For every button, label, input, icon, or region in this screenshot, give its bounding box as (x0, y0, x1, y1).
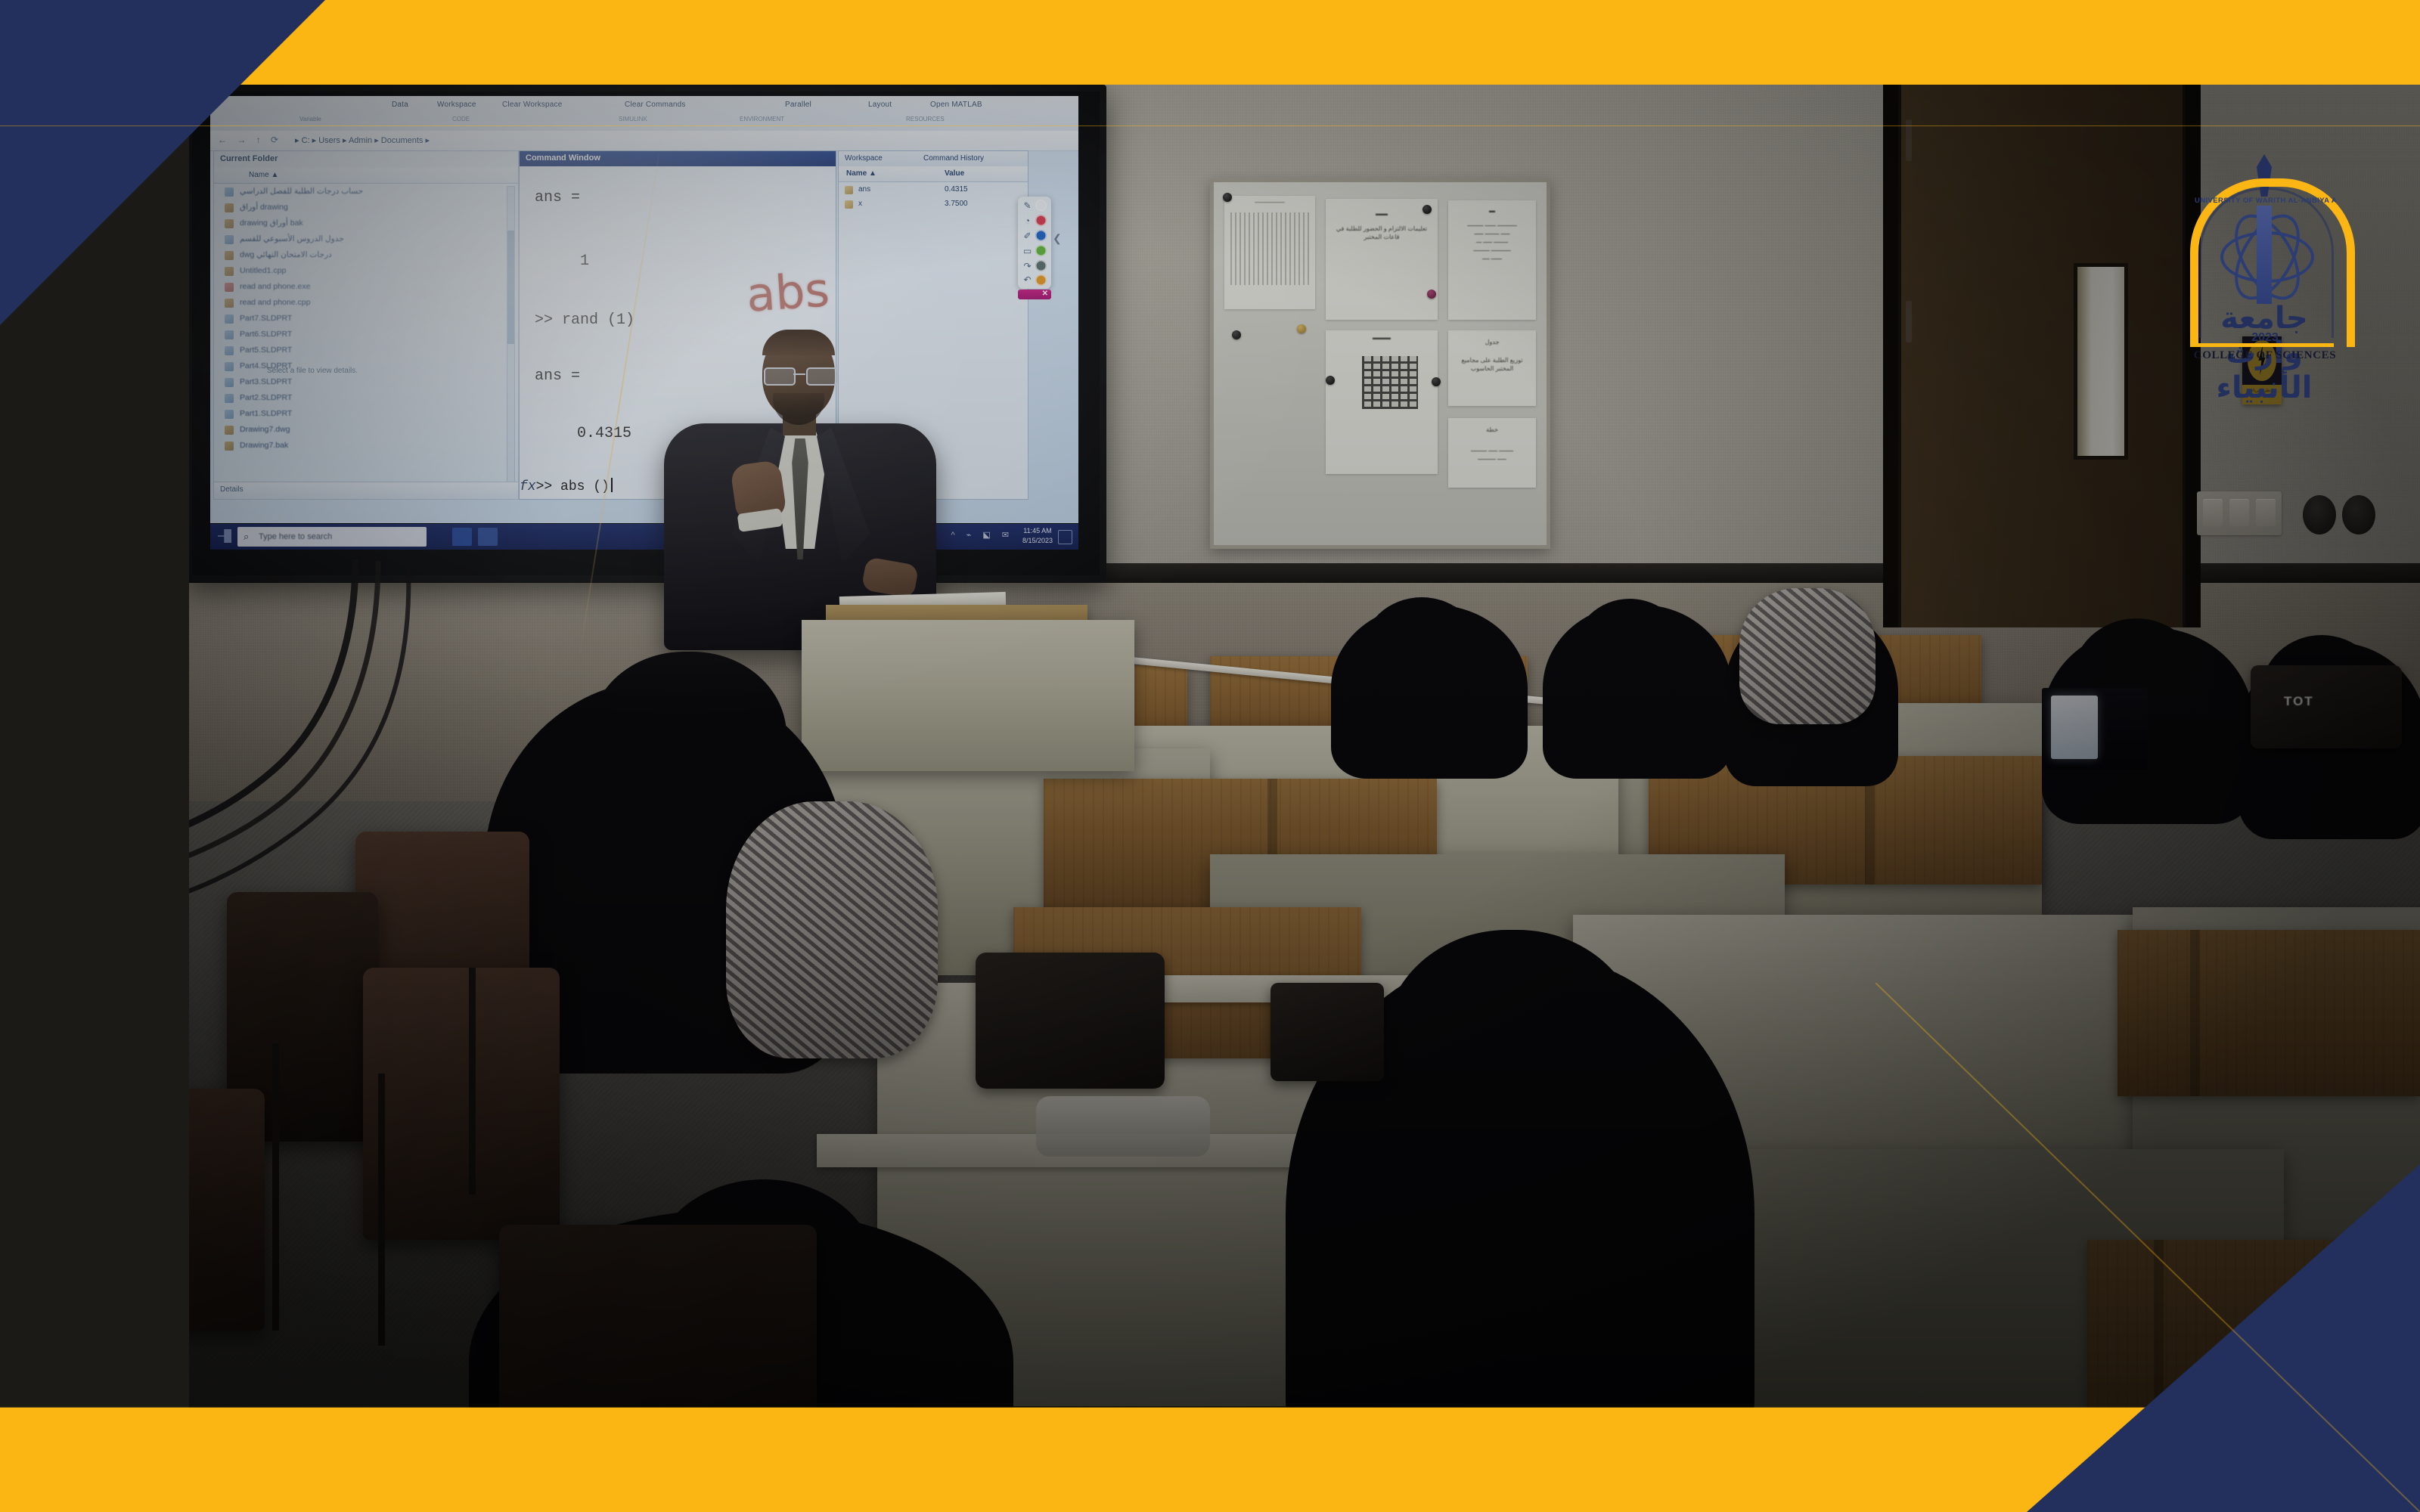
current-folder-title: Current Folder (220, 154, 278, 163)
ribbon-group-parallel: Parallel (785, 101, 811, 109)
classroom-photo: ─────── ▬▬ تعليمات الالتزام و الحضور للط… (0, 0, 2420, 1512)
swatch-orange[interactable] (1035, 274, 1047, 286)
command-output-line: 0.4315 (577, 426, 631, 442)
file-name: Drawing7.dwg (240, 425, 290, 434)
magnet-black-4 (1326, 376, 1335, 385)
ribbon-sub-environment: ENVIRONMENT (740, 116, 784, 122)
student-bag (2251, 665, 2402, 748)
notice-text-2: جدول (1453, 338, 1531, 346)
ribbon-group-workspace: Workspace (437, 101, 476, 109)
variable-value: 0.4315 (945, 185, 968, 194)
file-list-item[interactable]: Untitled1.cpp (214, 264, 518, 280)
command-output-line: 1 (580, 254, 589, 269)
file-type-icon (225, 187, 234, 197)
command-prompt-text[interactable]: >> abs () (536, 479, 610, 494)
file-list-item[interactable]: Part5.SLDPRT (214, 343, 518, 359)
notice-text-3: توزيع الطلبة على مجاميع المختبر الحاسوب (1453, 356, 1531, 373)
classroom-door[interactable] (1883, 45, 2201, 627)
tab-command-history[interactable]: Command History (923, 154, 984, 163)
patterned-headscarf (726, 801, 938, 1058)
eraser-icon[interactable]: ◔ (1021, 215, 1034, 228)
swatch-grey[interactable] (1035, 260, 1047, 271)
file-type-icon (225, 283, 234, 292)
file-list-item[interactable]: Part3.SLDPRT (214, 375, 518, 391)
logo-college-name: COLLEGE OF SCIENCES (2178, 349, 2352, 362)
current-folder-column-name[interactable]: Name ▲ (249, 171, 278, 179)
file-list-item[interactable]: جدول الدروس الأسبوعي للقسم (214, 232, 518, 248)
ribbon-group-open: Open MATLAB (930, 101, 982, 109)
ribbon-sub-simulink: SIMULINK (619, 116, 647, 122)
redo-icon[interactable]: ↷ (1021, 260, 1034, 273)
clock-date: 8/15/2023 (1022, 536, 1053, 546)
laptop-screen[interactable] (2051, 696, 2098, 759)
file-name: Part1.SLDPRT (240, 409, 292, 418)
file-list-item[interactable]: drawing أوراق (214, 200, 518, 216)
file-type-icon (225, 346, 234, 355)
file-type-icon (225, 299, 234, 308)
magnet-magenta (1427, 290, 1436, 299)
file-type-icon (225, 203, 234, 212)
file-type-icon (225, 378, 234, 387)
pen-icon[interactable]: ✎ (1021, 200, 1034, 212)
screenshot-root: ─────── ▬▬ تعليمات الالتزام و الحضور للط… (0, 0, 2420, 1512)
variable-value: 3.7500 (945, 200, 968, 208)
top-gold-band (0, 0, 2420, 85)
ribbon-group-clear-commands: Clear Commands (625, 101, 686, 109)
desk-front-panel (802, 620, 1134, 771)
file-name: حساب درجات الطلبة للفصل الدراسي (240, 187, 363, 196)
gold-hairline-bottom (0, 1407, 2420, 1408)
annotation-tool-palette[interactable]: ✎ ◔ ✐ ▭ ↷ ↶ (1018, 197, 1051, 289)
desk-back-panel (2117, 930, 2420, 1096)
file-name: read and phone.cpp (240, 298, 310, 307)
command-window-title: Command Window (526, 153, 600, 163)
file-name: Drawing7.bak (240, 441, 288, 450)
nav-icons[interactable]: ← → ↑ ⟳ (218, 135, 282, 145)
variable-name: ans (858, 185, 870, 194)
file-type-icon (225, 267, 234, 276)
current-folder-scrollbar[interactable] (507, 186, 515, 482)
notice-text-4: خطة (1453, 426, 1531, 434)
taskbar-search-input[interactable]: ⌕ Type here to search (237, 527, 427, 547)
magnet-black-1 (1223, 193, 1232, 202)
magnet-black-3 (1232, 330, 1241, 339)
swatch-green[interactable] (1035, 245, 1047, 256)
projection-screen[interactable]: Data Workspace Clear Workspace Clear Com… (185, 85, 1106, 582)
taskbar-app-matlab[interactable] (478, 528, 498, 546)
variable-icon (845, 200, 853, 209)
door-vision-panel (2074, 263, 2128, 460)
file-name: Untitled1.cpp (240, 266, 286, 275)
variable-icon (845, 186, 853, 194)
clock-time: 11:45 AM (1022, 526, 1053, 536)
close-annotation-bar[interactable]: ✕ (1018, 290, 1051, 299)
search-placeholder: Type here to search (259, 532, 332, 541)
file-list-item[interactable]: Drawing7.dwg (214, 423, 518, 438)
action-center-icon[interactable] (1058, 530, 1072, 544)
system-tray-icons[interactable]: ^ ⌁ ⬕ ✉ (951, 530, 1013, 540)
current-folder-pane[interactable]: Current Folder Name ▲ حساب درجات الطلبة … (213, 150, 519, 500)
file-type-icon (225, 330, 234, 339)
file-name: Part5.SLDPRT (240, 345, 292, 355)
ribbon-sub-code: CODE (452, 116, 470, 122)
light-switch-panel[interactable] (2197, 491, 2282, 535)
file-name: read and phone.exe (240, 282, 310, 291)
file-name: Part7.SLDPRT (240, 314, 292, 323)
file-list-item[interactable]: Part1.SLDPRT (214, 407, 518, 423)
file-type-icon (225, 235, 234, 244)
command-output-line: >> rand (1) (535, 313, 634, 328)
file-list-item[interactable]: bak أوراق drawing (214, 216, 518, 232)
fx-icon[interactable]: fx (520, 479, 536, 494)
file-list-item[interactable]: Part7.SLDPRT (214, 311, 518, 327)
ribbon-group-layout: Layout (868, 101, 892, 109)
file-type-icon (225, 442, 234, 451)
collapse-chevron-icon[interactable]: ❮ (1053, 232, 1062, 245)
desk-handbag (1270, 983, 1384, 1081)
current-folder-hint: Select a file to view details. (267, 367, 358, 375)
current-folder-file-list[interactable]: حساب درجات الطلبة للفصل الدراسيdrawing أ… (214, 184, 518, 482)
workspace-variable-row[interactable]: x3.7500 (839, 197, 1028, 212)
notice-text-1: تعليمات الالتزام و الحضور للطلبة في قاعا… (1330, 225, 1433, 241)
windows-taskbar[interactable]: ⌕ Type here to search ^ ⌁ ⬕ ✉ 11:45 AM 8… (210, 524, 1078, 550)
file-list-item[interactable]: Part4.SLDPRT (214, 359, 518, 375)
shape-icon[interactable]: ▭ (1021, 245, 1034, 258)
file-type-icon (225, 219, 234, 228)
file-type-icon (225, 426, 234, 435)
file-list-item[interactable]: Drawing7.bak (214, 438, 518, 454)
file-type-icon (225, 362, 234, 371)
start-button-icon[interactable] (218, 529, 231, 543)
magnet-gold (1297, 324, 1306, 333)
university-logo: UNIVERSITY OF WARITH AL-ANBIYA A جامعة و… (2178, 151, 2352, 370)
taskbar-clock[interactable]: 11:45 AM 8/15/2023 (1022, 526, 1053, 546)
highlighter-icon[interactable]: ✐ (1021, 230, 1034, 243)
eyeglasses-icon (762, 367, 836, 383)
swatch-white[interactable] (1035, 200, 1047, 211)
workspace-variable-row[interactable]: ans0.4315 (839, 183, 1028, 197)
variable-name: x (858, 200, 862, 208)
file-name: Part2.SLDPRT (240, 393, 292, 402)
matlab-address-bar[interactable]: ← → ↑ ⟳ ▸ C: ▸ Users ▸ Admin ▸ Documents… (210, 131, 1078, 151)
file-name: Part3.SLDPRT (240, 377, 292, 386)
file-name: درجات الامتحان النهائي dwg (240, 250, 332, 259)
ribbon-sub-variable: Variable (299, 116, 321, 122)
file-type-icon (225, 314, 234, 324)
crumpled-paper (1036, 1096, 1210, 1157)
ceiling-speaker-pair (2303, 495, 2378, 534)
ribbon-group-data: Data (392, 101, 408, 109)
file-type-icon (225, 410, 234, 419)
desk-handbag (976, 953, 1165, 1089)
breadcrumb-path[interactable]: ▸ C: ▸ Users ▸ Admin ▸ Documents ▸ (295, 135, 430, 145)
magnet-black-5 (1432, 377, 1441, 386)
file-list-item[interactable]: read and phone.cpp (214, 296, 518, 311)
workspace-col-value[interactable]: Value (945, 169, 964, 178)
gold-hairline-top (0, 125, 2420, 126)
file-list-item[interactable]: read and phone.exe (214, 280, 518, 296)
swatch-blue[interactable] (1035, 230, 1047, 241)
swatch-red[interactable] (1035, 215, 1047, 226)
undo-icon[interactable]: ↶ (1021, 274, 1034, 287)
file-name: جدول الدروس الأسبوعي للقسم (240, 234, 344, 243)
command-output-line: ans = (535, 369, 580, 384)
tab-workspace[interactable]: Workspace (845, 154, 883, 163)
handwritten-abs-annotation: abs (745, 262, 831, 322)
file-list-item[interactable]: Part6.SLDPRT (214, 327, 518, 343)
command-output-line: ans = (535, 191, 580, 206)
details-label: Details (220, 485, 244, 494)
lecture-chair[interactable] (363, 968, 560, 1240)
whiteboard-with-notices: ─────── ▬▬ تعليمات الالتزام و الحضور للط… (1210, 178, 1550, 549)
magnet-black-2 (1423, 205, 1432, 214)
ribbon-group-clear-workspace: Clear Workspace (502, 101, 563, 109)
taskbar-app-explorer[interactable] (452, 528, 472, 546)
ribbon-sub-resources: RESOURCES (906, 116, 945, 122)
file-list-item[interactable]: درجات الامتحان النهائي dwg (214, 248, 518, 264)
file-name: drawing أوراق (240, 203, 288, 212)
logo-pen-icon (2257, 206, 2272, 304)
file-list-item[interactable]: حساب درجات الطلبة للفصل الدراسي (214, 184, 518, 200)
file-list-item[interactable]: Part2.SLDPRT (214, 391, 518, 407)
logo-ring-text: UNIVERSITY OF WARITH AL-ANBIYA A (2184, 197, 2347, 205)
file-name: bak أوراق drawing (240, 218, 303, 228)
bag-brand-text: TOT (2284, 694, 2314, 709)
workspace-col-name[interactable]: Name ▲ (846, 169, 876, 178)
file-type-icon (225, 251, 234, 260)
matlab-projection[interactable]: Data Workspace Clear Workspace Clear Com… (210, 96, 1078, 523)
search-icon: ⌕ (244, 531, 249, 543)
close-icon[interactable]: ✕ (1042, 290, 1048, 298)
leopard-print-hijab (1739, 588, 1875, 724)
file-type-icon (225, 394, 234, 403)
file-name: Part6.SLDPRT (240, 330, 292, 339)
